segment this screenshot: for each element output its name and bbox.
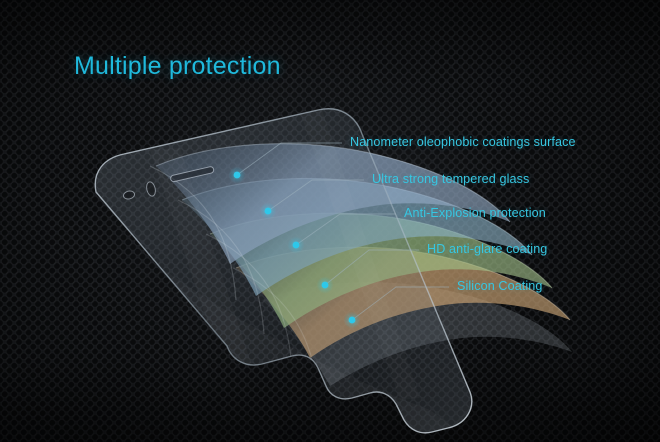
callout-label-1: Nanometer oleophobic coatings surface [350, 135, 576, 149]
callout-marker-dot[interactable] [265, 208, 272, 215]
callout-label-4: HD anti-glare coating [427, 242, 547, 256]
callout-label-3: Anti-Explosion protection [404, 206, 546, 220]
glass-sheet [90, 109, 472, 440]
callout-marker-dot[interactable] [234, 172, 241, 179]
callout-label-2: Ultra strong tempered glass [372, 172, 529, 186]
callout-marker-dot[interactable] [322, 282, 329, 289]
screen-protector-illustration [0, 0, 660, 442]
callout-label-5: Silicon Coating [457, 279, 543, 293]
callout-marker-dot[interactable] [293, 242, 300, 249]
callout-marker-dot[interactable] [349, 317, 356, 324]
promo-banner: Multiple protection [0, 0, 660, 442]
